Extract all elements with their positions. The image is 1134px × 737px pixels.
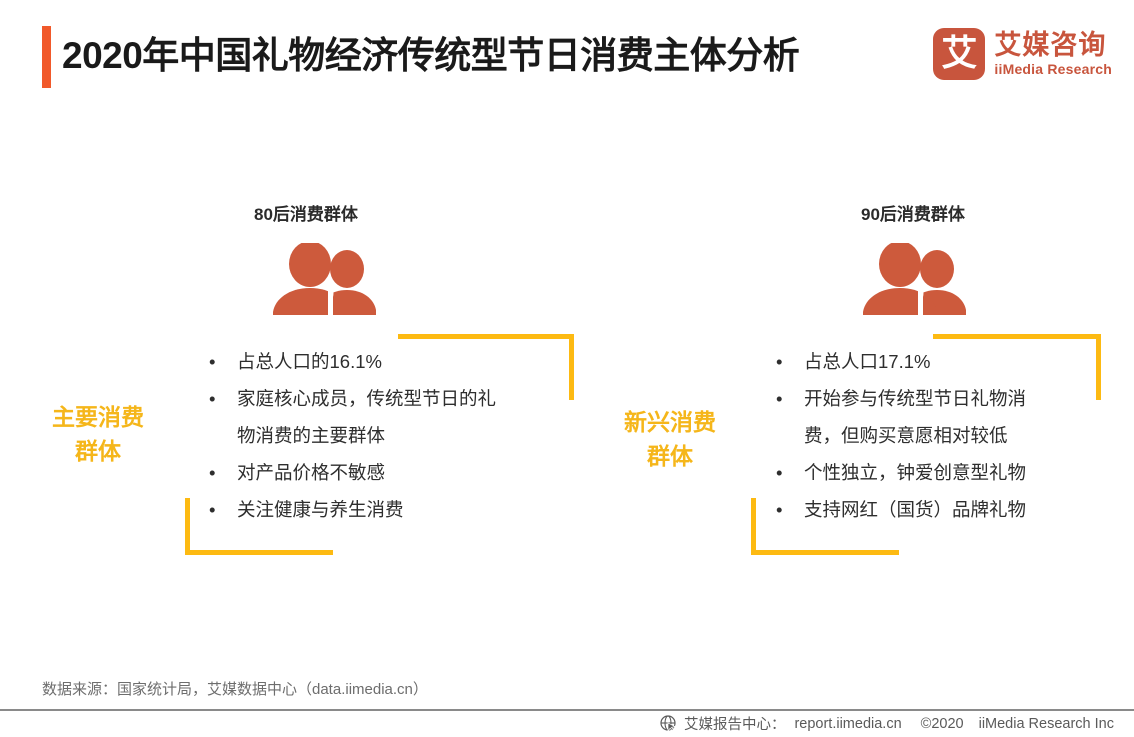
bullet-text: 支持网红（国货）品牌礼物 bbox=[804, 499, 1026, 520]
bullet-text: 占总人口的16.1% bbox=[237, 351, 382, 372]
globe-cursor-icon bbox=[660, 715, 677, 732]
bullet-item: • 开始参与传统型节日礼物消 bbox=[772, 380, 1112, 417]
group-title-post-80s: 80后消费群体 bbox=[254, 200, 358, 225]
bullet-item: • 支持网红（国货）品牌礼物 bbox=[772, 491, 1112, 528]
bullet-item: • 关注健康与养生消费 bbox=[205, 491, 575, 528]
bullet-text: 物消费的主要群体 bbox=[237, 425, 385, 446]
side-label-line2-post-90s: 群体 bbox=[600, 439, 740, 473]
side-label-line2-post-80s: 群体 bbox=[28, 434, 168, 468]
logo-name-en: iiMedia Research bbox=[994, 60, 1112, 78]
report-center-label: 艾媒报告中心： bbox=[684, 713, 786, 734]
infographic-page: 2020年中国礼物经济传统型节日消费主体分析 艾 艾媒咨询 iiMedia Re… bbox=[0, 0, 1134, 737]
bullet-dot: • bbox=[209, 491, 215, 528]
bullet-dot: • bbox=[209, 380, 215, 417]
bullet-dot: • bbox=[776, 491, 782, 528]
bullet-item-continuation: 费，但购买意愿相对较低 bbox=[772, 417, 1112, 454]
bullet-text: 家庭核心成员，传统型节日的礼 bbox=[237, 388, 496, 409]
bullet-item: • 家庭核心成员，传统型节日的礼 bbox=[205, 380, 575, 417]
bullet-list-post-90s: • 占总人口17.1% • 开始参与传统型节日礼物消 费，但购买意愿相对较低 •… bbox=[772, 343, 1112, 528]
bullet-dot: • bbox=[776, 380, 782, 417]
bullet-dot: • bbox=[209, 454, 215, 491]
side-label-post-80s: 主要消费 群体 bbox=[28, 400, 168, 468]
bullet-item: • 对产品价格不敏感 bbox=[205, 454, 575, 491]
side-label-line1-post-80s: 主要消费 bbox=[28, 400, 168, 434]
page-title: 2020年中国礼物经济传统型节日消费主体分析 bbox=[62, 26, 799, 86]
side-label-line1-post-90s: 新兴消费 bbox=[600, 405, 740, 439]
copyright: ©2020 bbox=[921, 716, 964, 732]
bullet-text: 开始参与传统型节日礼物消 bbox=[804, 388, 1026, 409]
two-people-icon-post-80s bbox=[272, 243, 384, 315]
bullet-item-continuation: 物消费的主要群体 bbox=[205, 417, 575, 454]
bullet-text: 个性独立，钟爱创意型礼物 bbox=[804, 462, 1026, 483]
title-accent-bar bbox=[42, 26, 51, 88]
bullet-text: 关注健康与养生消费 bbox=[237, 499, 404, 520]
logo-name-cn: 艾媒咨询 bbox=[994, 30, 1112, 60]
bullet-item: • 个性独立，钟爱创意型礼物 bbox=[772, 454, 1112, 491]
two-people-icon-post-90s bbox=[862, 243, 974, 315]
bullet-dot: • bbox=[209, 343, 215, 380]
bullet-text: 对产品价格不敏感 bbox=[237, 462, 385, 483]
side-label-post-90s: 新兴消费 群体 bbox=[600, 405, 740, 473]
bullet-item: • 占总人口的16.1% bbox=[205, 343, 575, 380]
header: 2020年中国礼物经济传统型节日消费主体分析 艾 艾媒咨询 iiMedia Re… bbox=[0, 0, 1134, 110]
bullet-list-post-80s: • 占总人口的16.1% • 家庭核心成员，传统型节日的礼 物消费的主要群体 •… bbox=[205, 343, 575, 528]
footer-right: 艾媒报告中心： report.iimedia.cn ©2020 iiMedia … bbox=[660, 713, 1116, 734]
group-title-post-90s: 90后消费群体 bbox=[861, 200, 965, 225]
report-url[interactable]: report.iimedia.cn bbox=[794, 716, 901, 732]
bullet-text: 费，但购买意愿相对较低 bbox=[804, 425, 1008, 446]
footer-divider bbox=[0, 709, 1134, 711]
data-source-line: 数据来源：国家统计局，艾媒数据中心（data.iimedia.cn） bbox=[42, 678, 428, 699]
brand-logo: 艾 艾媒咨询 iiMedia Research bbox=[933, 26, 1112, 82]
bullet-dot: • bbox=[776, 454, 782, 491]
bullet-text: 占总人口17.1% bbox=[804, 351, 930, 372]
bullet-dot: • bbox=[776, 343, 782, 380]
company-name: iiMedia Research Inc bbox=[979, 716, 1114, 732]
bullet-item: • 占总人口17.1% bbox=[772, 343, 1112, 380]
logo-mark-icon: 艾 bbox=[933, 28, 985, 80]
logo-text: 艾媒咨询 iiMedia Research bbox=[994, 30, 1112, 78]
